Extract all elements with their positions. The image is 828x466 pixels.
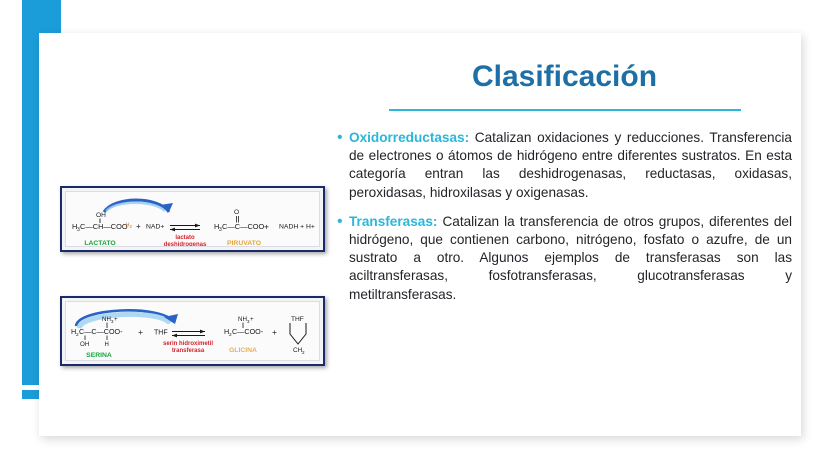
title-underline-rule	[389, 109, 741, 111]
slide-canvas: OH H 3 C—CH—COO H 2 + NAD+ lactato deshi…	[0, 0, 828, 466]
lactato-enzyme-line2: deshidrogenas	[164, 242, 207, 247]
bullet-body-transferasas: Transferasas: Catalizan la transferencia…	[349, 213, 792, 304]
thf-out-label: THF	[291, 316, 304, 323]
serina-reaction-diagram: NH 3 + H 2 C—C—COO- H OH SERINA + THF	[66, 302, 320, 361]
svg-text:C—C—COO-: C—C—COO-	[222, 222, 267, 231]
bullet-marker-icon: •	[337, 129, 349, 202]
figure-serina-inner: NH 3 + H 2 C—C—COO- H OH SERINA + THF	[65, 301, 320, 361]
bullet-body-oxidorreductasas: Oxidorreductasas: Catalizan oxidaciones …	[349, 129, 792, 202]
list-item: • Oxidorreductasas: Catalizan oxidacione…	[337, 129, 792, 202]
page-title: Clasificación	[337, 60, 792, 93]
text-column: Clasificación • Oxidorreductasas: Catali…	[337, 60, 792, 315]
glicina-product-label: GLICINA	[229, 347, 257, 354]
svg-text:+: +	[114, 316, 118, 323]
svg-text:+: +	[264, 222, 269, 232]
svg-text:2: 2	[302, 350, 305, 355]
serina-substrate-label: SERINA	[86, 352, 112, 359]
list-item: • Transferasas: Catalizan la transferenc…	[337, 213, 792, 304]
svg-text:+: +	[138, 327, 143, 337]
piruvato-o-label: O	[234, 209, 239, 216]
bullet-lead-label: Oxidorreductasas	[349, 130, 465, 145]
serina-enzyme-line2: transferasa	[172, 348, 205, 354]
serina-thf-label: THF	[154, 330, 168, 337]
left-accent-bar	[22, 0, 39, 385]
svg-text:C—CH—COO: C—CH—COO	[80, 222, 128, 231]
lactato-nadh-label: NADH + H+	[279, 224, 315, 231]
lactato-nad-label: NAD+	[146, 224, 164, 231]
piruvato-product-label: PIRUVATO	[227, 240, 261, 247]
svg-text:+: +	[136, 222, 141, 231]
lactato-reaction-diagram: OH H 3 C—CH—COO H 2 + NAD+ lactato deshi…	[66, 192, 320, 247]
serina-oh-label: OH	[80, 341, 89, 348]
figure-lactato-deshidrogenasa[interactable]: OH H 3 C—CH—COO H 2 + NAD+ lactato deshi…	[60, 186, 325, 252]
figure-lactato-inner: OH H 3 C—CH—COO H 2 + NAD+ lactato deshi…	[65, 191, 320, 247]
serina-enzyme-line1: serin hidroximetil	[163, 341, 213, 347]
lactato-enzyme-line1: lactato	[175, 235, 195, 241]
svg-text:C—COO-: C—COO-	[232, 327, 264, 336]
classification-bullet-list: • Oxidorreductasas: Catalizan oxidacione…	[337, 129, 792, 304]
bullet-lead-label: Transferasas	[349, 214, 433, 229]
svg-text:+: +	[250, 316, 254, 323]
svg-text:+: +	[272, 327, 277, 337]
lactato-oh-label: OH	[96, 212, 106, 219]
figure-serin-hidroximetil-transferasa[interactable]: NH 3 + H 2 C—C—COO- H OH SERINA + THF	[60, 296, 325, 366]
svg-text:C—C—COO-: C—C—COO-	[79, 327, 123, 336]
lactato-substrate-label: LACTATO	[84, 240, 115, 247]
glicina-nh3-label: NH	[238, 316, 247, 323]
bullet-marker-icon: •	[337, 213, 349, 304]
serina-nh3-label: NH	[102, 316, 111, 323]
serina-h-label: H	[105, 342, 109, 348]
svg-text:2: 2	[130, 224, 133, 229]
left-accent-stub	[22, 390, 39, 399]
